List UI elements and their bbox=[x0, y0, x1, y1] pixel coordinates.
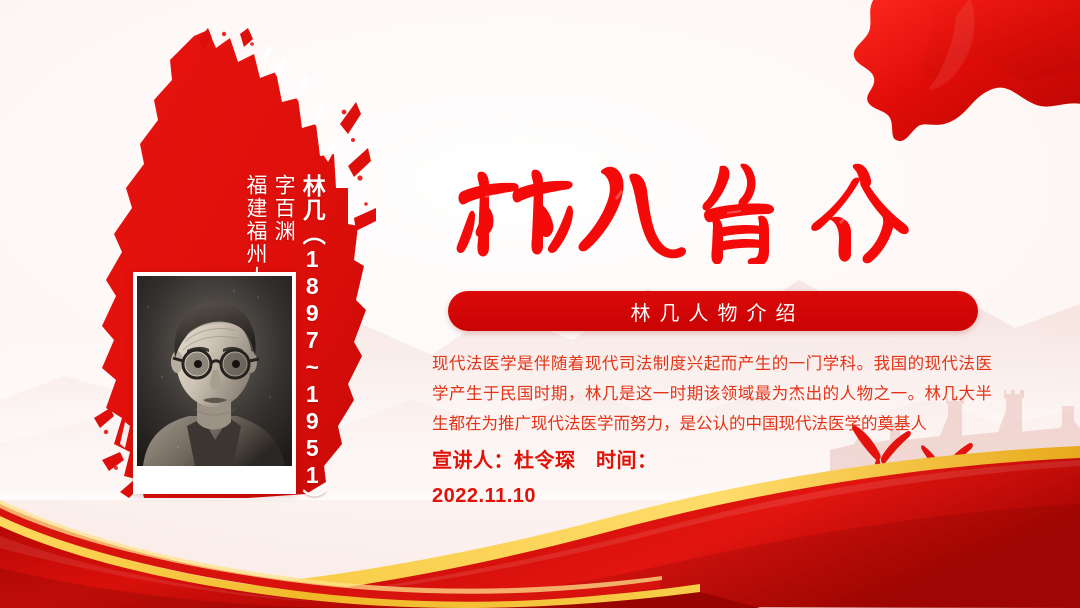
presentation-slide: 林几（1897~1951） 字百渊 福建福州人 bbox=[0, 0, 1080, 608]
portrait-photo bbox=[137, 276, 292, 466]
section-banner-label: 林几人物介绍 bbox=[622, 297, 805, 326]
section-banner: 林几人物介绍 bbox=[448, 291, 978, 331]
vertical-name-line: 林几（1897~1951） bbox=[300, 174, 324, 513]
date-line: 2022.11.10 bbox=[432, 479, 952, 514]
red-flag-icon bbox=[820, 0, 1080, 144]
presenter-line: 宣讲人：杜令琛 时间： bbox=[432, 450, 658, 472]
body-paragraph: 现代法医学是伴随着现代司法制度兴起而产生的一门学科。我国的现代法医学产生于民国时… bbox=[432, 349, 992, 439]
page-title bbox=[455, 152, 1015, 264]
presenter-info: 宣讲人：杜令琛 时间： 2022.11.10 bbox=[432, 444, 952, 514]
portrait-photo-frame bbox=[133, 272, 296, 494]
